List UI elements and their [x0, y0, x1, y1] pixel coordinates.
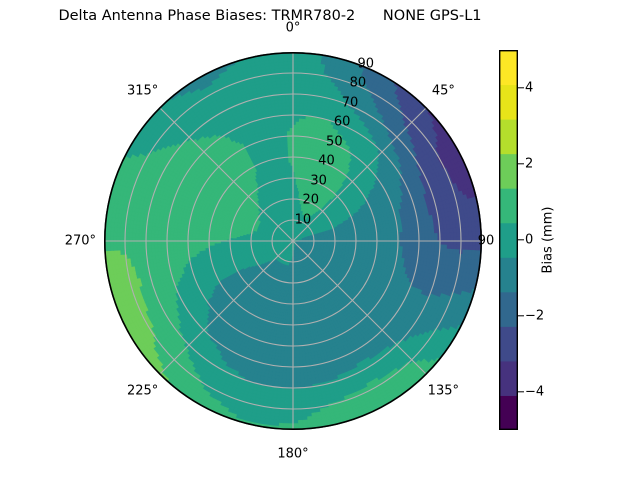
theta-tick-label-135: 135°	[428, 384, 459, 399]
r-tick-label-30: 30	[310, 173, 327, 188]
theta-tick-label-0: 0°	[286, 21, 301, 36]
colorbar-tick-mark-2	[518, 239, 524, 240]
colorbar-tick-mark-3	[518, 315, 524, 316]
theta-tick-label-270: 270°	[65, 234, 96, 249]
colorbar-tick-mark-1	[518, 163, 524, 164]
polar-grid-layer	[104, 52, 482, 430]
r-tick-label-50: 50	[326, 134, 343, 149]
theta-tick-label-315: 315°	[127, 83, 158, 98]
colorbar-gradient	[499, 50, 518, 430]
colorbar-tick-4: −4	[525, 385, 544, 400]
colorbar-axis-label: Bias (mm)	[541, 207, 556, 274]
polar-axes: 0°45°135°180°225°270°315° 10203040506070…	[104, 52, 482, 430]
r-tick-label-80: 80	[350, 76, 367, 91]
colorbar-tick-mark-0	[518, 87, 524, 88]
theta-tick-label-45: 45°	[432, 83, 455, 98]
colorbar-tick-2: 0	[525, 233, 533, 248]
colorbar-tick-3: −2	[525, 309, 544, 324]
colorbar-tick-1: 2	[525, 157, 533, 172]
r-tick-label-20: 20	[302, 193, 319, 208]
theta-tick-label-225: 225°	[127, 384, 158, 399]
r-tick-label-90: 90	[358, 56, 375, 71]
r-tick-label-70: 70	[342, 95, 359, 110]
r-tick-label-40: 40	[318, 154, 335, 169]
colorbar[interactable]	[499, 50, 518, 430]
theta-tick-label-180: 180°	[277, 446, 308, 461]
polar-contour-plot	[104, 52, 482, 430]
r-tick-label-60: 60	[334, 115, 351, 130]
page-title: Delta Antenna Phase Biases: TRMR780-2 NO…	[0, 8, 540, 24]
theta-tick-label-90: 90	[478, 234, 495, 249]
r-tick-label-10: 10	[295, 212, 312, 227]
figure-canvas: Delta Antenna Phase Biases: TRMR780-2 NO…	[0, 0, 640, 480]
colorbar-tick-mark-4	[518, 391, 524, 392]
colorbar-tick-0: 4	[525, 81, 533, 96]
